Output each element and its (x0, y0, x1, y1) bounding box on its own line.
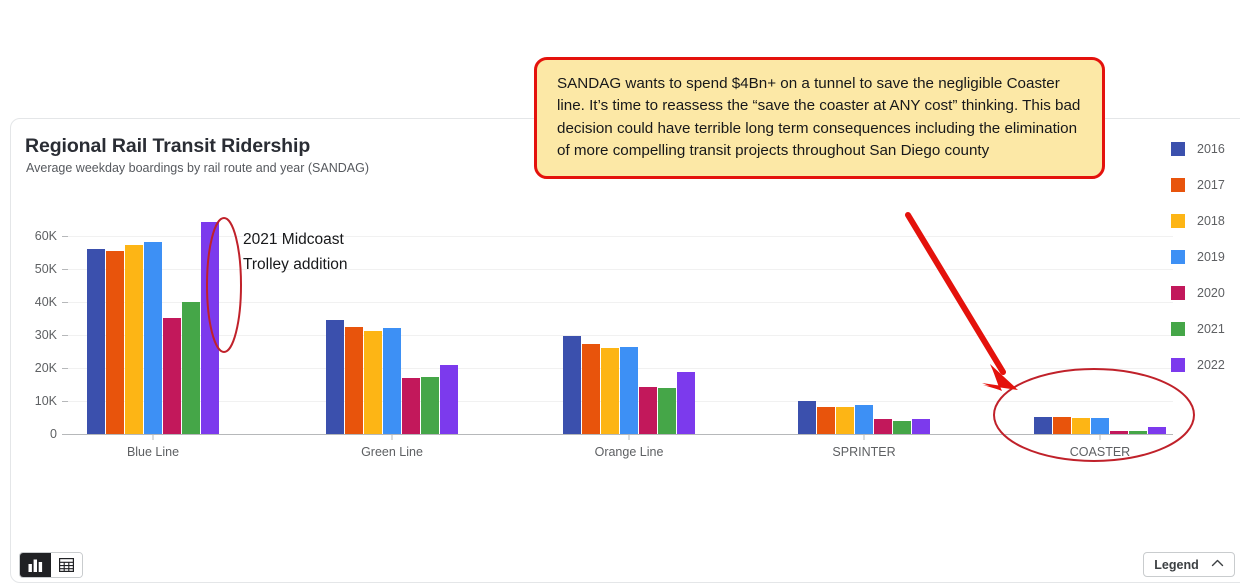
chart-subtitle: Average weekday boardings by rail route … (26, 161, 369, 175)
callout-annotation: SANDAG wants to spend $4Bn+ on a tunnel … (534, 57, 1105, 179)
bar-sprinter-2016[interactable] (798, 401, 816, 434)
bar-sprinter-2019[interactable] (855, 405, 873, 434)
bar-green-line-2018[interactable] (364, 331, 382, 434)
legend-item-label: 2016 (1197, 142, 1225, 156)
x-axis-label-orange-line: Orange Line (595, 445, 664, 459)
bar-coaster-2018[interactable] (1072, 418, 1090, 434)
bar-chart-view-button[interactable] (20, 553, 51, 577)
y-axis-tick-mark (62, 368, 68, 369)
y-axis-tick-label: 60K (35, 229, 57, 243)
bar-blue-line-2019[interactable] (144, 242, 162, 434)
y-axis-tick-label: 50K (35, 262, 57, 276)
legend-swatch-icon (1171, 250, 1185, 264)
y-axis-tick-mark (62, 269, 68, 270)
legend-item-label: 2017 (1197, 178, 1225, 192)
bar-orange-line-2022[interactable] (677, 372, 695, 434)
bar-coaster-2020[interactable] (1110, 431, 1128, 434)
bar-blue-line-2018[interactable] (125, 245, 143, 434)
bar-green-line-2020[interactable] (402, 378, 420, 434)
bar-green-line-2019[interactable] (383, 328, 401, 434)
bar-green-line-2021[interactable] (421, 377, 439, 434)
x-axis-tick-mark (864, 434, 865, 440)
legend-item-2021[interactable]: 2021 (1171, 311, 1240, 347)
legend-item-2017[interactable]: 2017 (1171, 167, 1240, 203)
legend-item-2019[interactable]: 2019 (1171, 239, 1240, 275)
bar-sprinter-2022[interactable] (912, 419, 930, 434)
x-axis-label-green-line: Green Line (361, 445, 423, 459)
x-axis-tick-mark (153, 434, 154, 440)
bar-sprinter-2021[interactable] (893, 421, 911, 434)
legend-item-label: 2019 (1197, 250, 1225, 264)
legend-item-2022[interactable]: 2022 (1171, 347, 1240, 383)
x-axis-tick-mark (392, 434, 393, 440)
x-axis-tick-mark (629, 434, 630, 440)
bar-blue-line-2020[interactable] (163, 318, 181, 434)
table-view-button[interactable] (51, 553, 82, 577)
x-axis-line (68, 434, 1173, 435)
page-title: Regional Rail Transit Ridership (25, 135, 310, 158)
legend-toggle-button[interactable]: Legend (1143, 552, 1235, 577)
y-axis-tick-label: 30K (35, 328, 57, 342)
bar-orange-line-2019[interactable] (620, 347, 638, 434)
y-axis-tick-label: 10K (35, 394, 57, 408)
legend-swatch-icon (1171, 358, 1185, 372)
callout-text: SANDAG wants to spend $4Bn+ on a tunnel … (557, 73, 1086, 162)
chart-plot-area: 010K20K30K40K50K60KBlue LineGreen LineOr… (68, 219, 1173, 434)
legend-item-2016[interactable]: 2016 (1171, 131, 1240, 167)
bar-blue-line-2017[interactable] (106, 251, 124, 434)
bar-coaster-2022[interactable] (1148, 427, 1166, 434)
x-axis-tick-mark (1100, 434, 1101, 440)
bar-blue-line-2016[interactable] (87, 249, 105, 434)
legend-swatch-icon (1171, 178, 1185, 192)
bar-orange-line-2020[interactable] (639, 387, 657, 434)
legend-swatch-icon (1171, 142, 1185, 156)
table-grid-icon (59, 558, 74, 572)
legend-swatch-icon (1171, 214, 1185, 228)
bar-coaster-2016[interactable] (1034, 417, 1052, 434)
chevron-up-icon (1211, 559, 1224, 570)
x-axis-label-coaster: COASTER (1070, 445, 1130, 459)
y-axis-tick-mark (62, 302, 68, 303)
y-axis-tick-mark (62, 401, 68, 402)
midcoast-annotation-text: 2021 Midcoast Trolley addition (243, 228, 348, 278)
legend-button-label: Legend (1154, 558, 1198, 572)
bar-orange-line-2021[interactable] (658, 388, 676, 434)
bar-orange-line-2018[interactable] (601, 348, 619, 434)
chart-card: Regional Rail Transit Ridership Average … (10, 118, 1240, 583)
legend-item-2020[interactable]: 2020 (1171, 275, 1240, 311)
legend-swatch-icon (1171, 286, 1185, 300)
bar-blue-line-2022[interactable] (201, 222, 219, 434)
bar-cluster (1034, 219, 1167, 434)
bar-cluster (563, 219, 696, 434)
bar-green-line-2017[interactable] (345, 327, 363, 435)
view-mode-toggle[interactable] (19, 552, 83, 578)
chart-legend: 2016201720182019202020212022 (1171, 131, 1240, 383)
bar-coaster-2017[interactable] (1053, 417, 1071, 434)
bar-green-line-2022[interactable] (440, 365, 458, 434)
y-axis-tick-mark (62, 434, 68, 435)
legend-swatch-icon (1171, 322, 1185, 336)
y-axis-tick-label: 20K (35, 361, 57, 375)
bar-chart-icon (28, 559, 43, 572)
legend-item-2018[interactable]: 2018 (1171, 203, 1240, 239)
x-axis-label-sprinter: SPRINTER (832, 445, 895, 459)
bar-green-line-2016[interactable] (326, 320, 344, 434)
bar-coaster-2019[interactable] (1091, 418, 1109, 434)
legend-item-label: 2020 (1197, 286, 1225, 300)
bar-sprinter-2017[interactable] (817, 407, 835, 434)
y-axis-tick-mark (62, 335, 68, 336)
bar-coaster-2021[interactable] (1129, 431, 1147, 434)
bar-cluster (798, 219, 931, 434)
x-axis-label-blue-line: Blue Line (127, 445, 179, 459)
bar-orange-line-2016[interactable] (563, 336, 581, 434)
bar-sprinter-2020[interactable] (874, 419, 892, 434)
legend-item-label: 2021 (1197, 322, 1225, 336)
legend-item-label: 2018 (1197, 214, 1225, 228)
y-axis-tick-mark (62, 236, 68, 237)
y-axis-tick-label: 0 (50, 427, 57, 441)
bar-orange-line-2017[interactable] (582, 344, 600, 434)
bar-blue-line-2021[interactable] (182, 302, 200, 434)
y-axis-tick-label: 40K (35, 295, 57, 309)
bar-cluster (87, 219, 220, 434)
bar-sprinter-2018[interactable] (836, 407, 854, 434)
legend-item-label: 2022 (1197, 358, 1225, 372)
